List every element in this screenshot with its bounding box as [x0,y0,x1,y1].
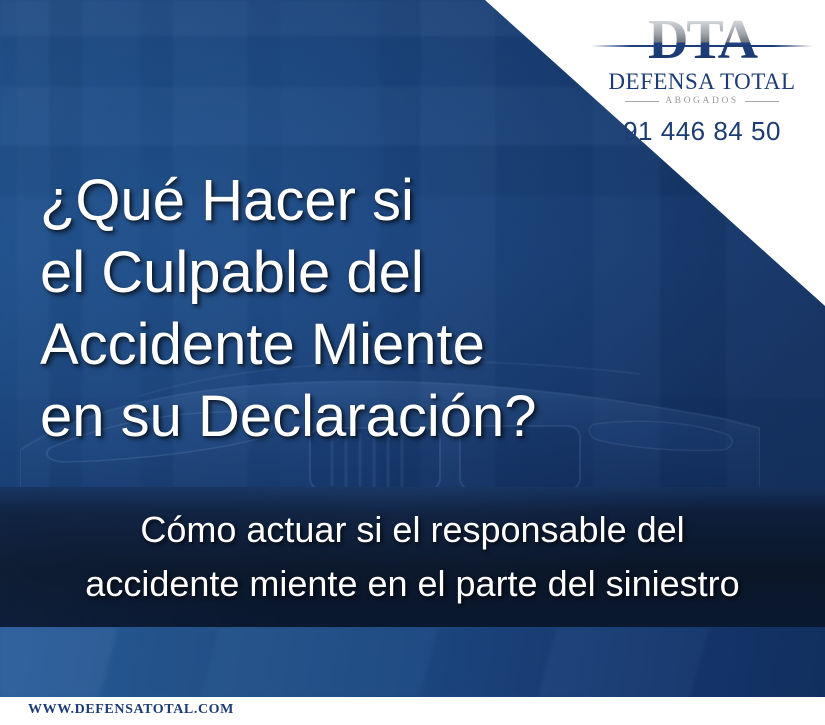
phone-number[interactable]: 91 446 84 50 [597,118,807,144]
logo-tagline-text: ABOGADOS [665,97,739,107]
promo-poster: DTA DEFENSA TOTAL ABOGADOS 91 446 84 50 … [0,0,825,725]
logo-tagline-dash-right [745,101,779,102]
headline-title: ¿Qué Hacer si el Culpable del Accidente … [40,165,680,453]
footer-website-url[interactable]: WWW.DEFENSATOTAL.COM [28,702,234,718]
brand-logo[interactable]: DTA DEFENSA TOTAL ABOGADOS 91 446 84 50 [597,12,807,144]
subtitle-band: Cómo actuar si el responsable del accide… [0,487,825,627]
logo-company-name: DEFENSA TOTAL [597,70,807,93]
lower-blue-strip [0,627,825,697]
subtitle-text: Cómo actuar si el responsable del accide… [0,487,825,611]
logo-mark-wrapper: DTA [597,12,807,68]
logo-mark-dta: DTA [597,12,807,68]
footer-bar: WWW.DEFENSATOTAL.COM [0,697,825,725]
logo-tagline-dash-left [625,101,659,102]
logo-divider-line [591,45,813,47]
logo-tagline-row: ABOGADOS [597,97,807,107]
